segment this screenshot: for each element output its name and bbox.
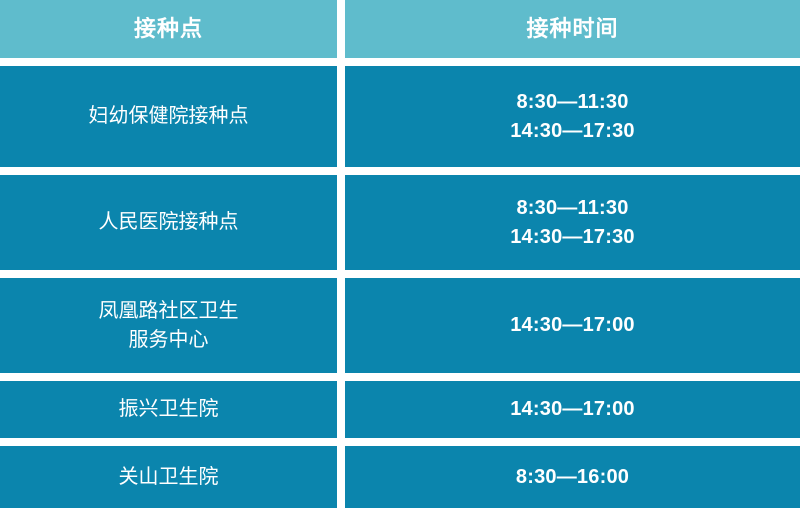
cell-time: 8:30—11:30 14:30—17:30: [345, 66, 800, 167]
column-divider: [337, 446, 345, 508]
right-edge-spacer: [800, 381, 804, 438]
cell-venue: 人民医院接种点: [0, 175, 337, 270]
table-row: 妇幼保健院接种点 8:30—11:30 14:30—17:30: [0, 66, 804, 167]
cell-time: 8:30—16:00: [345, 446, 800, 508]
cell-time: 8:30—11:30 14:30—17:30: [345, 175, 800, 270]
table-row: 凤凰路社区卫生 服务中心 14:30—17:00: [0, 278, 804, 373]
table-header-row: 接种点 接种时间: [0, 0, 804, 58]
row-divider: [0, 58, 804, 66]
cell-venue: 妇幼保健院接种点: [0, 66, 337, 167]
header-cell-venue: 接种点: [0, 0, 337, 58]
right-edge-spacer: [800, 175, 804, 270]
column-divider: [337, 381, 345, 438]
column-divider: [337, 175, 345, 270]
right-edge-spacer: [800, 0, 804, 58]
header-cell-time: 接种时间: [345, 0, 800, 58]
row-divider: [0, 167, 804, 175]
right-edge-spacer: [800, 66, 804, 167]
cell-venue: 关山卫生院: [0, 446, 337, 508]
row-divider: [0, 438, 804, 446]
row-divider: [0, 270, 804, 278]
cell-time: 14:30—17:00: [345, 278, 800, 373]
column-divider: [337, 278, 345, 373]
column-divider: [337, 66, 345, 167]
table-row: 振兴卫生院 14:30—17:00: [0, 381, 804, 438]
row-divider: [0, 373, 804, 381]
column-divider: [337, 0, 345, 58]
right-edge-spacer: [800, 278, 804, 373]
cell-venue: 凤凰路社区卫生 服务中心: [0, 278, 337, 373]
right-edge-spacer: [800, 446, 804, 508]
cell-venue: 振兴卫生院: [0, 381, 337, 438]
table-row: 关山卫生院 8:30—16:00: [0, 446, 804, 508]
table-row: 人民医院接种点 8:30—11:30 14:30—17:30: [0, 175, 804, 270]
cell-time: 14:30—17:00: [345, 381, 800, 438]
vaccination-schedule-table: 接种点 接种时间 妇幼保健院接种点 8:30—11:30 14:30—17:30…: [0, 0, 804, 508]
